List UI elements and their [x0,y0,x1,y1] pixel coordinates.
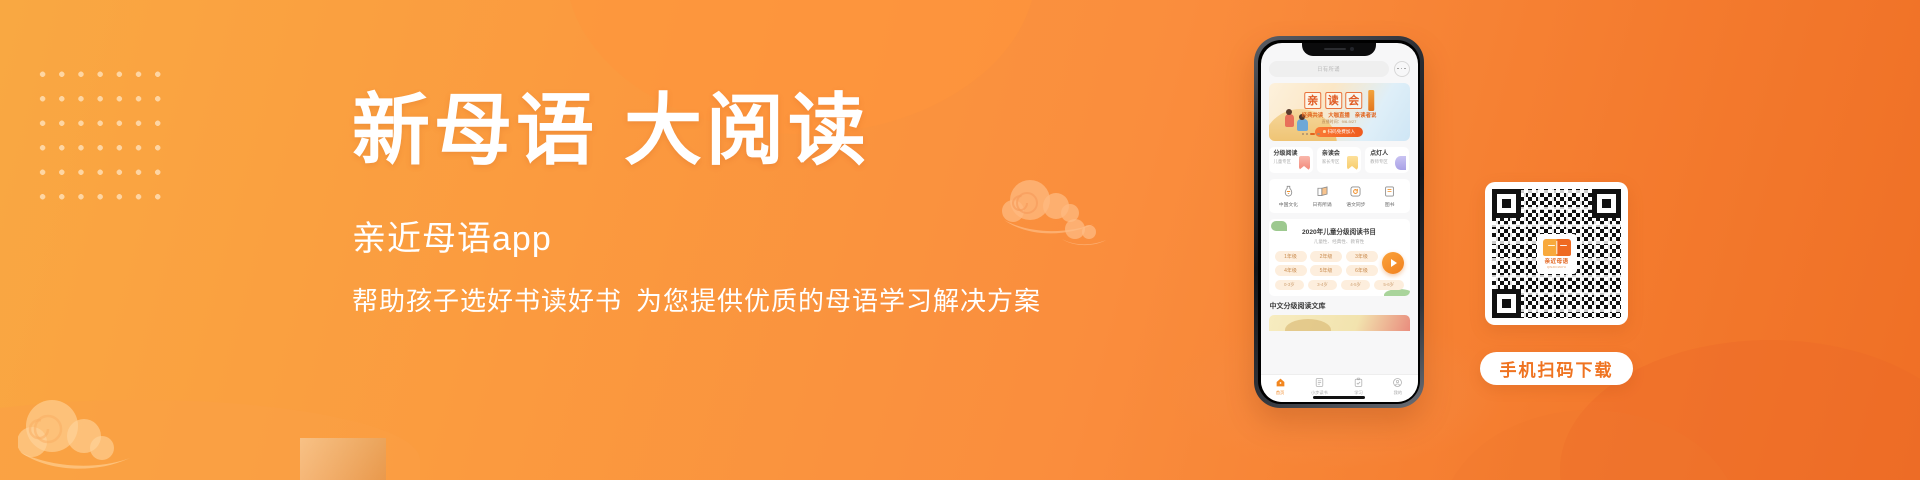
category-card-parent-club[interactable]: 亲读会 家长专区 [1317,147,1361,173]
qr-finder-bottom-left [1492,289,1521,318]
page-title: 新母语大阅读 [352,92,1012,170]
hero-sub-item-1: 经典共读 [1302,111,1324,119]
qr-code-card: 亲近母语 QINJIN MUYU [1485,182,1628,325]
qr-dot-icon [1323,130,1326,133]
open-book-icon [1316,185,1329,198]
phone-notch [1302,43,1376,56]
headline-part-2: 大阅读 [624,87,870,174]
quick-link-daily-recite[interactable]: 日有所诵 [1305,185,1339,208]
age-button-2[interactable]: 3-4岁 [1308,280,1338,290]
tab-label: 学习 [1354,390,1362,396]
cloud-motif-small [1060,216,1108,246]
grade-button-2[interactable]: 2年级 [1310,251,1342,262]
qr-finder-top-right [1592,189,1621,218]
hero-char-2: 读 [1325,92,1342,109]
booklist-card: 2020年儿童分级阅读书目 儿童性、经典性、教育性 1年级 2年级 3年级 4年… [1269,219,1410,296]
tab-profile[interactable]: 我的 [1378,377,1417,396]
hero-cta-button[interactable]: 扫码免费加入 [1315,127,1363,137]
age-button-3[interactable]: 4-5岁 [1341,280,1371,290]
tab-label: 首页 [1276,390,1284,396]
bookmark-purple-icon [1395,156,1406,170]
carousel-dots[interactable] [1302,133,1320,135]
promo-banner: 新母语大阅读 亲近母语app 帮助孩子选好书读好书为您提供优质的母语学习解决方案… [0,0,1920,480]
hero-kid-illustration-2 [1297,119,1308,131]
search-placeholder: 日有所诵 [1317,65,1340,73]
earpiece-speaker [1324,48,1346,51]
grade-button-3[interactable]: 3年级 [1346,251,1378,262]
brand-logo-en: QINJIN MUYU [1547,266,1566,269]
qr-code-image: 亲近母语 QINJIN MUYU [1492,189,1621,318]
hero-char-3: 会 [1345,92,1362,109]
app-search-bar: 日有所诵 [1269,61,1410,77]
vase-icon [1282,185,1295,198]
bookmark-yellow-icon [1347,156,1358,170]
hero-kid-illustration-1 [1285,114,1294,127]
category-card-teacher[interactable]: 点灯人 教师专区 [1365,147,1409,173]
app-name-subtitle: 亲近母语app [352,221,1012,258]
decorative-dot-grid [33,62,167,210]
quick-link-label: 图书 [1385,201,1395,208]
circle-arrow-icon [1349,185,1362,198]
download-button-label: 手机扫码下载 [1500,356,1614,381]
home-icon [1275,377,1286,388]
decorative-cube [300,438,386,480]
user-circle-icon [1392,377,1403,388]
phone-screen: 日有所诵 亲 读 会 [1261,43,1418,402]
grade-button-grid: 1年级 2年级 3年级 4年级 5年级 6年级 [1275,251,1378,277]
quick-link-books[interactable]: 图书 [1373,185,1407,208]
banner-tagline: 帮助孩子选好书读好书为您提供优质的母语学习解决方案 [352,286,1012,317]
tab-label: 小步读书 [1311,390,1328,396]
play-video-icon[interactable] [1382,252,1404,274]
open-book-logo-icon [1543,239,1571,256]
hero-cta-label: 扫码免费加入 [1328,129,1356,135]
leaf-decoration-bottom-right [1384,289,1410,296]
tab-study[interactable]: 学习 [1339,377,1378,396]
category-card-graded-reading[interactable]: 分级阅读 儿童专区 [1269,147,1313,173]
age-button-row: 0-3岁 3-4岁 4-5岁 5-6岁 [1275,280,1404,290]
more-dots-icon[interactable] [1394,61,1410,77]
hero-promo-card[interactable]: 亲 读 会 经典共读 大咖直播 亲读者说 直播时间：9/6-9/27 [1269,83,1410,141]
tab-label: 我的 [1394,390,1402,396]
cloud-motif-bottom-left [18,396,138,474]
list-icon [1314,377,1325,388]
hero-sub-item-3: 亲读者说 [1355,111,1377,119]
hero-title: 亲 读 会 [1304,90,1374,111]
home-indicator [1313,396,1365,398]
quick-link-row: 中国文化 日有所诵 [1269,179,1410,213]
banner-copy: 新母语大阅读 亲近母语app 帮助孩子选好书读好书为您提供优质的母语学习解决方案 [352,92,1012,318]
age-button-4[interactable]: 5-6岁 [1374,280,1404,290]
clipboard-check-icon [1353,377,1364,388]
grade-button-5[interactable]: 5年级 [1310,265,1342,276]
hero-date-text: 直播时间：9/6-9/27 [1322,119,1357,125]
tab-reading[interactable]: 小步读书 [1300,377,1339,396]
bookmark-red-icon [1299,156,1310,170]
brand-logo-name: 亲近母语 [1545,257,1569,265]
tagline-part-1: 帮助孩子选好书读好书 [352,286,622,316]
quick-link-textbook-sync[interactable]: 语文同步 [1339,185,1373,208]
brand-logo: 亲近母语 QINJIN MUYU [1537,234,1577,274]
category-card-row: 分级阅读 儿童专区 亲读会 家长专区 点灯人 教师专区 [1269,147,1410,173]
headline-part-1: 新母语 [352,87,598,174]
quick-link-chinese-culture[interactable]: 中国文化 [1272,185,1306,208]
front-camera-icon [1350,47,1354,51]
library-section-title: 中文分级阅读文库 [1270,301,1410,311]
grade-button-1[interactable]: 1年级 [1275,251,1307,262]
booklist-title: 2020年儿童分级阅读书目 [1275,226,1404,236]
search-input[interactable]: 日有所诵 [1269,61,1389,77]
age-button-1[interactable]: 0-3岁 [1275,280,1305,290]
hero-char-1: 亲 [1304,92,1321,109]
hero-subtitle-row: 经典共读 大咖直播 亲读者说 [1302,111,1377,119]
tagline-part-2: 为您提供优质的母语学习解决方案 [636,286,1041,316]
hero-flag-decoration [1368,90,1374,111]
book-icon [1383,185,1396,198]
booklist-subtitle: 儿童性、经典性、教育性 [1275,239,1404,245]
grade-button-4[interactable]: 4年级 [1275,265,1307,276]
quick-link-label: 中国文化 [1279,201,1298,208]
qr-finder-top-left [1492,189,1521,218]
quick-link-label: 日有所诵 [1313,201,1332,208]
grade-button-6[interactable]: 6年级 [1346,265,1378,276]
phone-mockup: 日有所诵 亲 读 会 [1254,36,1424,408]
download-button[interactable]: 手机扫码下载 [1480,352,1633,385]
quick-link-label: 语文同步 [1346,201,1365,208]
tab-home[interactable]: 首页 [1261,377,1300,396]
hero-sub-item-2: 大咖直播 [1328,111,1350,119]
library-preview-card[interactable] [1269,315,1410,331]
